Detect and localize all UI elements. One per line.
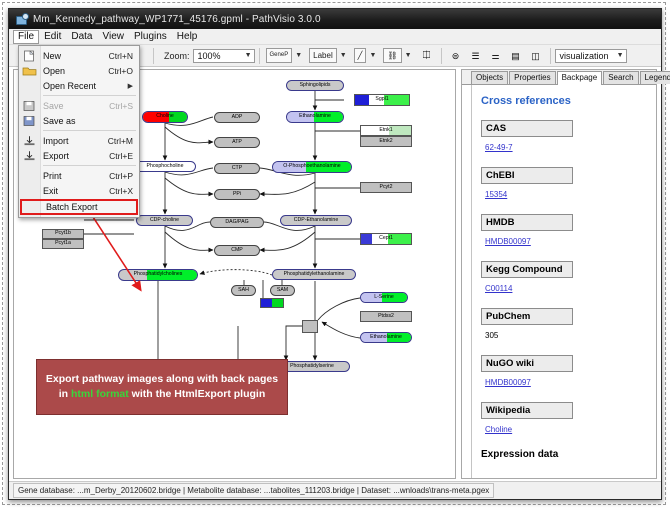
- tab-legend[interactable]: Legend: [640, 71, 670, 84]
- pathway-node-ethanolamine[interactable]: Ethanolamine: [286, 111, 344, 123]
- datanode-tool[interactable]: GeneP ▼: [266, 48, 306, 63]
- cross-reference-link[interactable]: C00114: [485, 284, 512, 293]
- file-menu-separator: [43, 130, 136, 131]
- no-icon: [19, 168, 40, 183]
- file-menu-item-export[interactable]: ExportCtrl+E: [19, 148, 139, 163]
- file-menu-item-label: New: [40, 51, 109, 61]
- pathway-node-ptdss2[interactable]: Ptdss2: [360, 311, 412, 322]
- pathway-node-label: Etnk2: [379, 139, 392, 144]
- screenshot-root: Mm_Kennedy_pathway_WP1771_45176.gpml - P…: [0, 0, 670, 509]
- cross-reference-db-name: Wikipedia: [481, 402, 573, 419]
- pathway-node-label: Sgpl1: [375, 97, 388, 102]
- file-menu-separator: [43, 165, 136, 166]
- no-icon: [22, 200, 43, 215]
- file-menu-item-new[interactable]: NewCtrl+N: [19, 48, 139, 63]
- cross-reference-entry: ChEBI15354: [481, 167, 656, 202]
- side-panel: Objects Properties Backpage Search Legen…: [461, 69, 657, 479]
- callout-highlight: html format: [71, 388, 129, 400]
- chevron-right-icon: ▶: [128, 82, 139, 90]
- pathway-node-choline[interactable]: Choline: [142, 111, 188, 123]
- file-menu-item-shortcut: Ctrl+O: [108, 66, 139, 76]
- export-icon: [19, 148, 40, 163]
- tab-search[interactable]: Search: [603, 71, 638, 84]
- cross-reference-db-name: PubChem: [481, 308, 573, 325]
- menu-help[interactable]: Help: [172, 30, 203, 44]
- save-disk-icon: [19, 98, 40, 113]
- import-icon: [19, 133, 40, 148]
- visualization-value: visualization: [560, 51, 609, 61]
- pathway-node-label: Pcyt1a: [55, 241, 71, 246]
- file-menu-item-save-as[interactable]: Save as: [19, 113, 139, 128]
- file-menu-item-label: Save as: [40, 116, 133, 126]
- cross-reference-db-name: HMDB: [481, 214, 573, 231]
- interaction-tool[interactable]: ⛓ ▼: [383, 48, 414, 63]
- toolbar-separator-3: [441, 48, 442, 64]
- pathway-node-pcyt1b[interactable]: Pcyt1b: [42, 229, 84, 239]
- new-file-icon: [19, 48, 40, 63]
- file-menu-item-shortcut: Ctrl+P: [109, 171, 139, 181]
- cross-reference-link[interactable]: Choline: [485, 425, 512, 434]
- cross-reference-link[interactable]: 62-49-7: [485, 143, 513, 152]
- cross-reference-entry: NuGO wikiHMDB00097: [481, 355, 656, 390]
- pathway-node-cdp-ethanolamine[interactable]: CDP-Ethanolamine: [280, 215, 352, 226]
- menu-view[interactable]: View: [97, 30, 129, 44]
- cross-reference-link[interactable]: HMDB00097: [485, 237, 531, 246]
- pathway-node[interactable]: [302, 320, 318, 333]
- file-menu-item-label: Batch Export: [43, 202, 130, 212]
- file-menu-item-label: Print: [40, 171, 109, 181]
- pathway-node-label: Ethanolamine: [299, 114, 331, 119]
- node-color-band: [272, 299, 283, 307]
- interaction-icon: ⛓: [383, 48, 401, 63]
- cross-reference-entry: HMDBHMDB00097: [481, 214, 656, 249]
- zoom-label: Zoom:: [164, 51, 190, 61]
- pathway-node-label: Etnk1: [379, 128, 392, 133]
- cross-reference-link[interactable]: 15354: [485, 190, 507, 199]
- pathway-node-label: Sphingolipids: [300, 83, 331, 88]
- group-icon[interactable]: ◫: [528, 48, 544, 64]
- pathway-node-label: CDP-choline: [150, 218, 179, 223]
- pathway-node-label: Ethanolamine: [370, 335, 402, 340]
- file-menu-item-shortcut: Ctrl+M: [108, 136, 139, 146]
- menu-edit[interactable]: Edit: [39, 30, 66, 44]
- pathway-node-ethanolamine[interactable]: Ethanolamine: [360, 332, 412, 343]
- visualization-combo[interactable]: visualization ▼: [555, 49, 627, 63]
- pathway-node-atp[interactable]: ATP: [214, 137, 260, 148]
- datanode-icon: GeneP: [266, 48, 293, 63]
- menu-data[interactable]: Data: [66, 30, 97, 44]
- file-menu-item-shortcut: Ctrl+X: [109, 186, 139, 196]
- line-tool[interactable]: ╱ ▼: [354, 48, 380, 63]
- pathway-node-label: Pcyt2: [380, 185, 393, 190]
- pathway-node-sgpl1[interactable]: Sgpl1: [354, 94, 410, 106]
- status-bar: Gene database: ...m_Derby_20120602.bridg…: [9, 481, 661, 499]
- file-menu-item-import[interactable]: ImportCtrl+M: [19, 133, 139, 148]
- zoom-combo[interactable]: 100% ▼: [193, 49, 255, 63]
- zoom-value: 100%: [198, 51, 221, 61]
- label-tool-label: Label: [309, 48, 337, 63]
- backpage-content: Cross references CAS62-49-7ChEBI15354HMD…: [471, 85, 656, 478]
- pathway-node-label: DAG/PAG: [225, 220, 248, 225]
- pathway-node-ppi[interactable]: PPi: [214, 189, 260, 200]
- file-menu-item-label: Import: [40, 136, 108, 146]
- label-tool[interactable]: Label ▼: [309, 48, 350, 63]
- cross-reference-db-name: Kegg Compound: [481, 261, 573, 278]
- align-left-icon[interactable]: ⊜: [448, 48, 464, 64]
- pathway-node-cmp[interactable]: CMP: [214, 245, 260, 256]
- pathvisio-icon: [15, 13, 28, 26]
- save-as-disk-icon: [19, 113, 40, 128]
- anchor-icon[interactable]: ⎅: [419, 48, 435, 64]
- file-menu-item-batch-export[interactable]: Batch Export: [20, 199, 138, 215]
- cross-reference-db-name: CAS: [481, 120, 573, 137]
- pathway-node-o-phosphoethanolamine[interactable]: O-Phosphoethanolamine: [272, 161, 352, 173]
- file-menu-item-shortcut: Ctrl+N: [109, 51, 139, 61]
- file-menu-item-print[interactable]: PrintCtrl+P: [19, 168, 139, 183]
- menu-bar: File Edit Data View Plugins Help: [9, 29, 661, 45]
- pathway-node-label: Phosphatidylserine: [290, 364, 334, 369]
- pathway-node-dag-pag[interactable]: DAG/PAG: [210, 217, 264, 228]
- chevron-down-icon: ▼: [366, 52, 379, 59]
- pathway-node-label: ATP: [232, 140, 242, 145]
- pathway-node-label: CTP: [232, 166, 242, 171]
- file-menu-item-exit[interactable]: ExitCtrl+X: [19, 183, 139, 198]
- pathway-node-label: Ptdss2: [378, 314, 394, 319]
- file-menu-dropdown[interactable]: NewCtrl+NOpenCtrl+OOpen Recent▶SaveCtrl+…: [18, 45, 140, 218]
- pathway-node[interactable]: [260, 298, 284, 308]
- file-menu-item-label: Export: [40, 151, 109, 161]
- file-menu-item-shortcut: Ctrl+E: [109, 151, 139, 161]
- pathway-node-label: SAM: [277, 288, 288, 293]
- cross-reference-db-name: ChEBI: [481, 167, 573, 184]
- chevron-down-icon: ▼: [617, 52, 624, 59]
- chevron-down-icon: ▼: [337, 52, 350, 59]
- expression-data-title: Expression data: [481, 449, 656, 460]
- pathway-node-ctp[interactable]: CTP: [214, 163, 260, 174]
- status-text: Gene database: ...m_Derby_20120602.bridg…: [13, 483, 494, 498]
- cross-reference-value: 305: [485, 331, 498, 340]
- line-icon: ╱: [354, 48, 367, 63]
- callout-text-after: with the HtmlExport plugin: [129, 388, 266, 400]
- pathway-node-label: Cept1: [379, 236, 393, 241]
- cross-reference-list: CAS62-49-7ChEBI15354HMDBHMDB00097Kegg Co…: [481, 120, 656, 437]
- stack-icon[interactable]: ▤: [508, 48, 524, 64]
- file-menu-item-label: Open: [40, 66, 108, 76]
- pathway-node-cept1[interactable]: Cept1: [360, 233, 412, 245]
- file-menu-item-save: SaveCtrl+S: [19, 98, 139, 113]
- menu-file[interactable]: File: [13, 30, 39, 44]
- pathway-node-sphingolipids[interactable]: Sphingolipids: [286, 80, 344, 91]
- align-center-icon[interactable]: ☰: [468, 48, 484, 64]
- pathway-node-etnk1[interactable]: Etnk1: [360, 125, 412, 136]
- file-menu-item-label: Exit: [40, 186, 109, 196]
- pathway-node-label: Phosphatidylethanolamine: [284, 272, 345, 277]
- pathway-node-label: Choline: [156, 114, 174, 119]
- pathvisio-window: Mm_Kennedy_pathway_WP1771_45176.gpml - P…: [8, 8, 662, 500]
- file-menu-separator: [43, 95, 136, 96]
- tab-objects[interactable]: Objects: [471, 71, 508, 84]
- pathway-node-label: CDP-Ethanolamine: [294, 218, 338, 223]
- window-title: Mm_Kennedy_pathway_WP1771_45176.gpml - P…: [33, 14, 321, 25]
- file-menu-item-label: Open Recent: [40, 81, 128, 91]
- distribute-icon[interactable]: ⚌: [488, 48, 504, 64]
- node-color-band: [355, 95, 369, 105]
- pathway-node-label: Phosphocholine: [147, 164, 184, 169]
- tab-backpage[interactable]: Backpage: [557, 71, 603, 85]
- toolbar-separator-4: [550, 48, 551, 64]
- file-menu-item-open-recent[interactable]: Open Recent▶: [19, 78, 139, 93]
- file-menu-item-label: Save: [40, 101, 109, 111]
- cross-references-title: Cross references: [481, 95, 656, 107]
- pathway-node-pcyt2[interactable]: Pcyt2: [360, 182, 412, 193]
- tab-properties[interactable]: Properties: [509, 71, 555, 84]
- pathway-node-label: ADP: [232, 115, 243, 120]
- node-color-band: [261, 299, 272, 307]
- side-panel-tabs: Objects Properties Backpage Search Legen…: [462, 70, 656, 85]
- pathway-node-label: CMP: [231, 248, 243, 253]
- pathway-node-adp[interactable]: ADP: [214, 112, 260, 123]
- annotation-callout: Export pathway images along with back pa…: [36, 359, 288, 415]
- pathway-node-label: Pcyt1b: [55, 231, 71, 236]
- pathway-node-label: O-Phosphoethanolamine: [283, 164, 340, 169]
- node-color-band: [361, 234, 372, 244]
- toolbar-separator: [153, 48, 154, 64]
- no-icon: [19, 78, 40, 93]
- cross-reference-entry: CAS62-49-7: [481, 120, 656, 155]
- pathway-node-label: SAH: [238, 288, 249, 293]
- chevron-down-icon: ▼: [402, 52, 415, 59]
- cross-reference-entry: PubChem305: [481, 308, 656, 343]
- cross-reference-entry: WikipediaCholine: [481, 402, 656, 437]
- open-folder-icon: [19, 63, 40, 78]
- file-menu-item-shortcut: Ctrl+S: [109, 101, 139, 111]
- menu-plugins[interactable]: Plugins: [129, 30, 172, 44]
- pathway-node-l-serine[interactable]: L-Serine: [360, 292, 408, 303]
- pathway-node-etnk2[interactable]: Etnk2: [360, 136, 412, 147]
- no-icon: [19, 183, 40, 198]
- pathway-node-label: L-Serine: [374, 295, 394, 300]
- cross-reference-entry: Kegg CompoundC00114: [481, 261, 656, 296]
- file-menu-item-open[interactable]: OpenCtrl+O: [19, 63, 139, 78]
- chevron-down-icon: ▼: [292, 52, 305, 59]
- pathway-node-sah[interactable]: SAH: [231, 285, 256, 296]
- toolbar-separator-2: [259, 48, 260, 64]
- title-bar: Mm_Kennedy_pathway_WP1771_45176.gpml - P…: [9, 9, 661, 29]
- pathway-node-sam[interactable]: SAM: [270, 285, 295, 296]
- pathway-node-label: PPi: [233, 192, 241, 197]
- pathway-node-phosphatidylethanolamine[interactable]: Phosphatidylethanolamine: [272, 269, 356, 280]
- pathway-node-cdp-choline[interactable]: CDP-choline: [136, 215, 193, 226]
- pathway-node-phosphatidylcholines[interactable]: Phosphatidylcholines: [118, 269, 198, 281]
- cross-reference-link[interactable]: HMDB00097: [485, 378, 531, 387]
- cross-reference-db-name: NuGO wiki: [481, 355, 573, 372]
- chevron-down-icon: ▼: [245, 52, 252, 59]
- pathway-node-label: Phosphatidylcholines: [134, 272, 183, 277]
- pathway-node-phosphocholine[interactable]: Phosphocholine: [134, 161, 196, 172]
- pathway-node-pcyt1a[interactable]: Pcyt1a: [42, 239, 84, 249]
